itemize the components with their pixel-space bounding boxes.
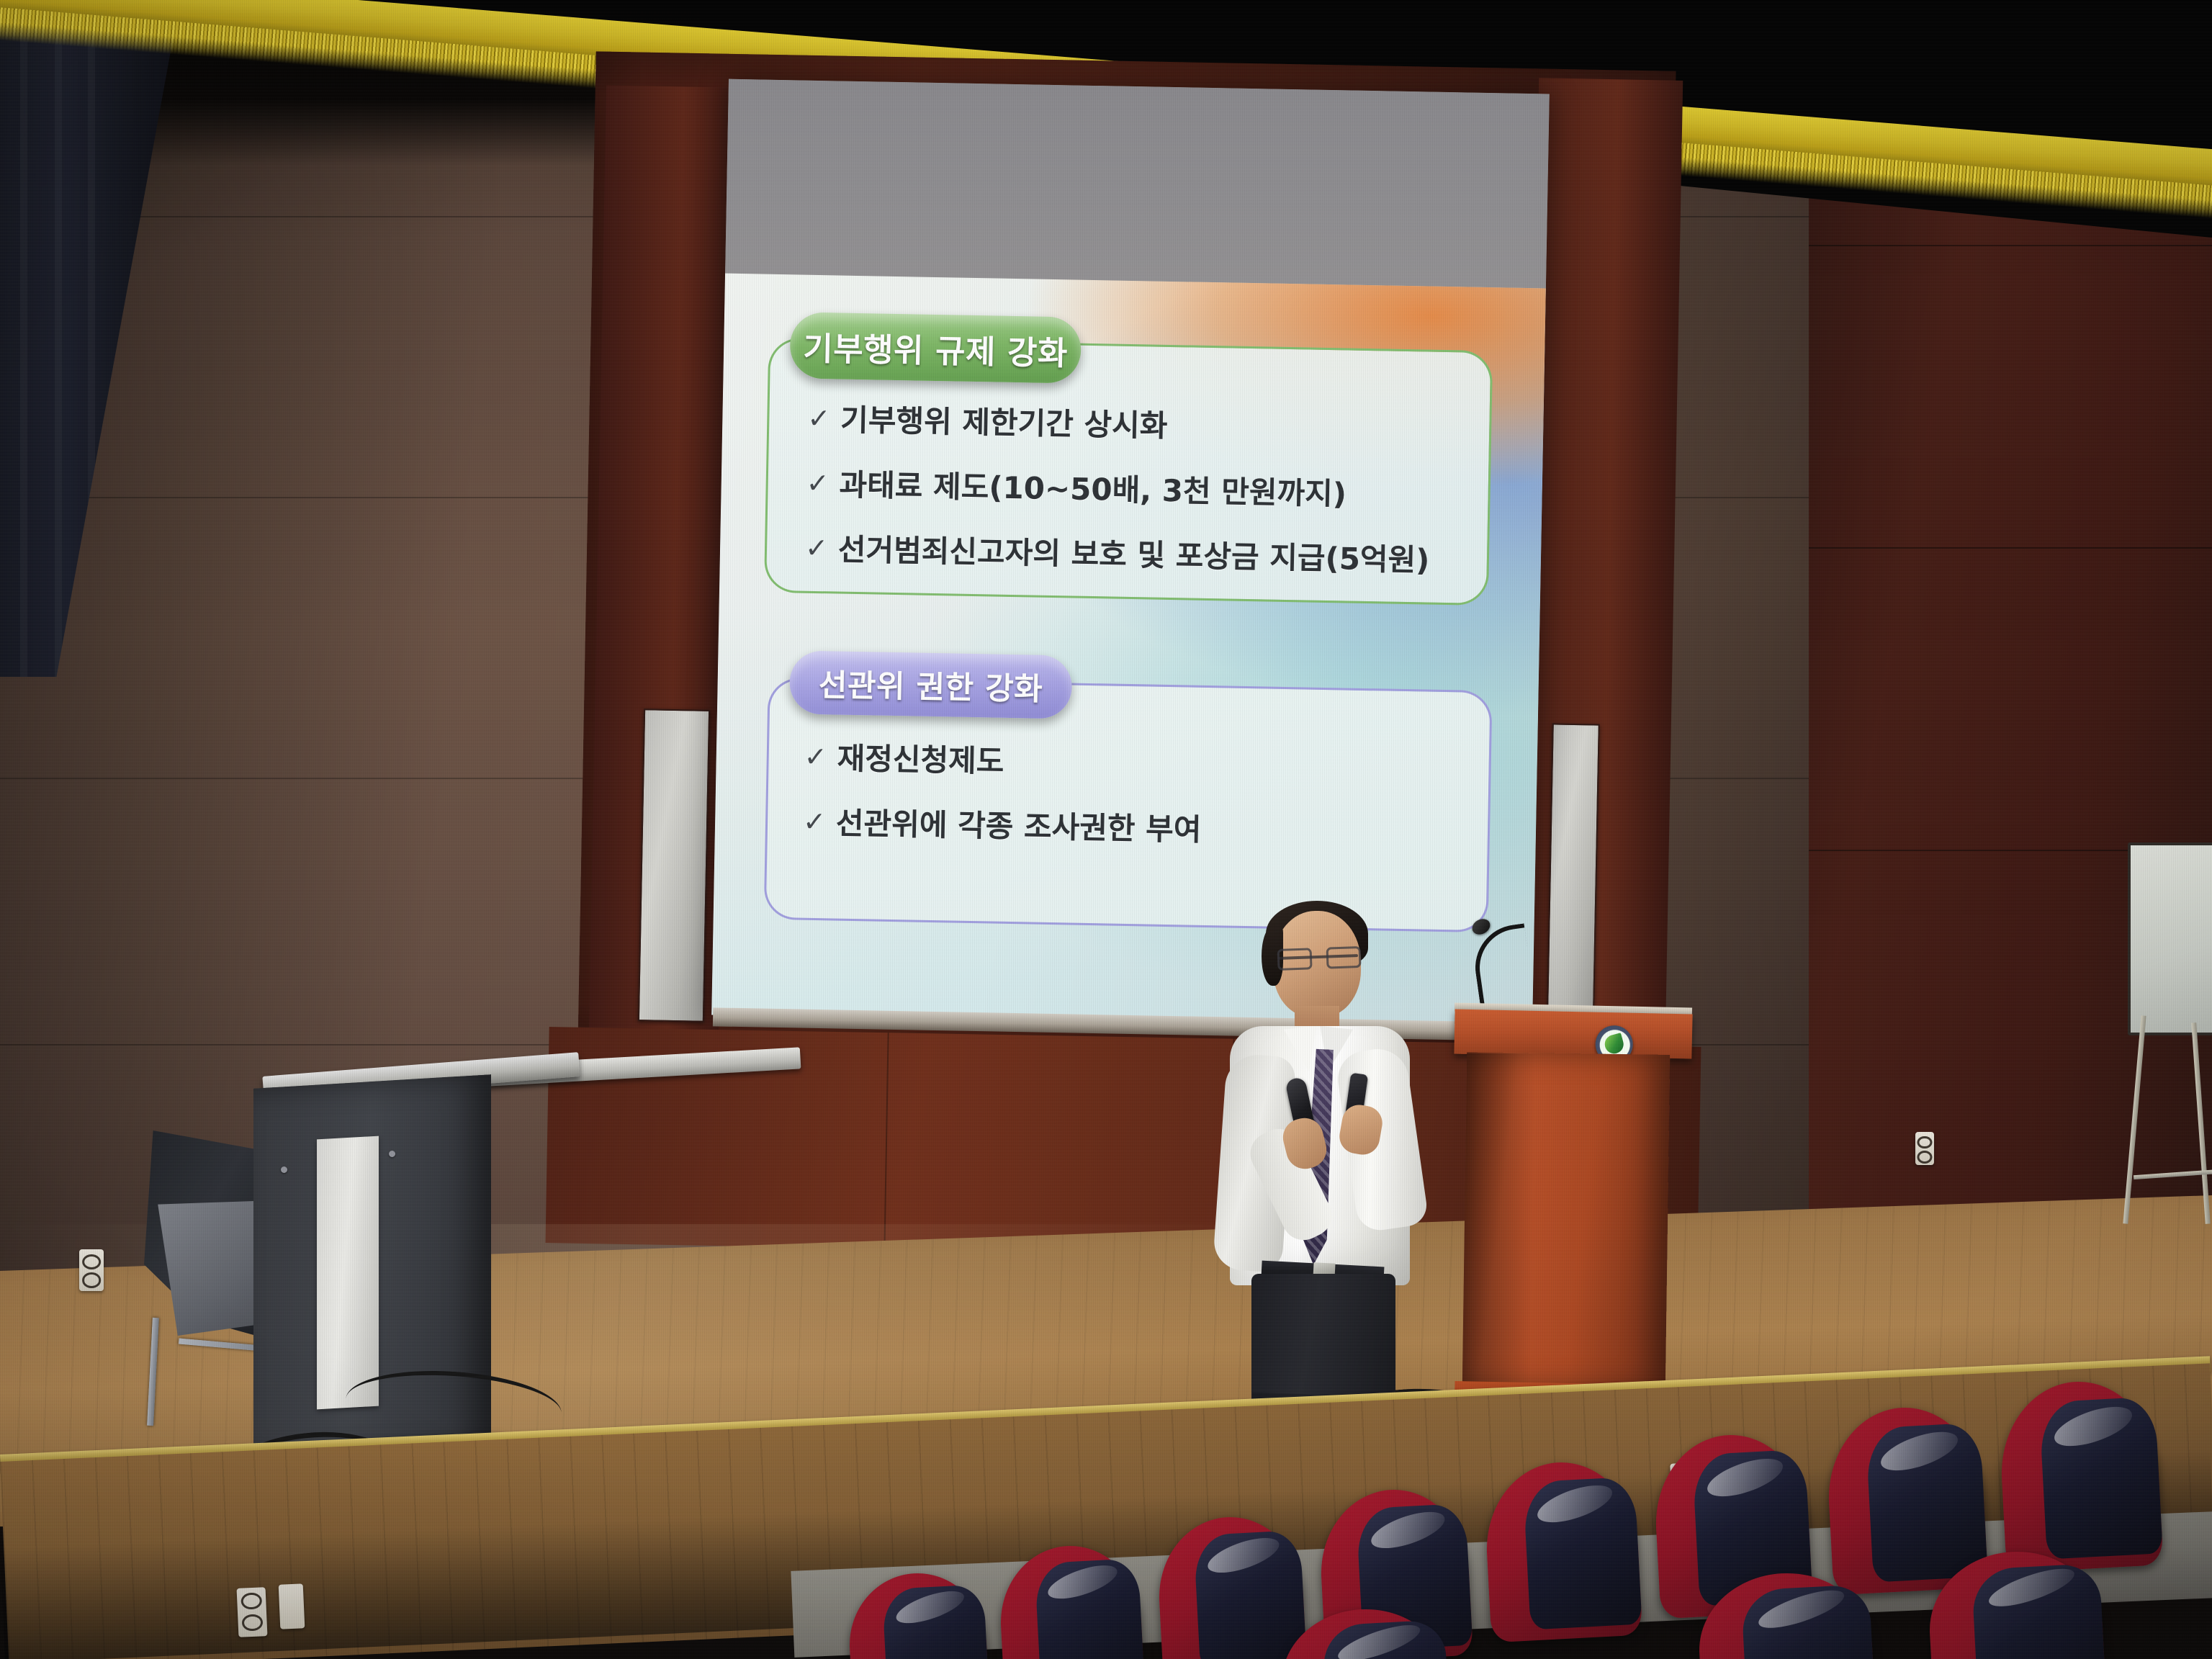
presenter	[1210, 889, 1440, 1458]
check-icon: ✓	[804, 742, 827, 773]
seat	[846, 1570, 990, 1659]
slide-heading-donation: 기부행위 규제 강화	[789, 312, 1082, 383]
podium-top-rail	[1454, 1010, 1692, 1059]
wall-outlet-left	[79, 1249, 104, 1291]
speaker-grille-left	[638, 709, 710, 1022]
check-icon: ✓	[806, 468, 829, 500]
projection-screen: 기부행위 규제 강화 ✓ 기부행위 제한기간 상시화 ✓ 과태료 제도(10~5…	[711, 79, 1550, 1030]
speaker-grille-right	[1547, 723, 1600, 1007]
flipchart-easel[interactable]	[2113, 842, 2212, 1217]
auditorium-photo: 기부행위 규제 강화 ✓ 기부행위 제한기간 상시화 ✓ 과태료 제도(10~5…	[0, 0, 2212, 1659]
seat	[1696, 1569, 1876, 1659]
check-icon: ✓	[805, 533, 829, 565]
check-icon: ✓	[807, 403, 831, 435]
seat	[997, 1542, 1146, 1659]
slide-bullet-text: 기부행위 제한기간 상시화	[840, 404, 1168, 444]
check-icon: ✓	[803, 806, 827, 838]
auditorium-seat-row	[850, 1465, 2212, 1659]
slide-bullet: ✓ 선거범죄신고자의 보호 및 포상금 지급(5억원)	[805, 533, 1497, 579]
stage-face-outlet-a	[237, 1587, 268, 1637]
screen-unlit-area	[725, 79, 1550, 300]
slide-bullet-text: 재정신청제도	[837, 742, 1004, 778]
slide-bullet-text: 과태료 제도(10~50배, 3천 만원까지)	[839, 469, 1346, 511]
slide-bullets-donation: ✓ 기부행위 제한기간 상시화 ✓ 과태료 제도(10~50배, 3천 만원까지…	[804, 403, 1499, 611]
podium-shadow	[1462, 1053, 1535, 1388]
easel-crossbar	[2134, 1169, 2212, 1179]
podium[interactable]	[1455, 1012, 1699, 1415]
slide-heading-nec: 선관위 권한 강화	[789, 650, 1073, 719]
slide-bullets-nec: ✓ 재정신청제도 ✓ 선관위에 각종 조사권한 부여	[802, 742, 1496, 884]
lectern-accent-panel	[317, 1136, 379, 1410]
whiteboard-panel[interactable]	[2128, 842, 2212, 1035]
seat	[1926, 1547, 2107, 1659]
seat	[1997, 1377, 2163, 1573]
seat	[1278, 1605, 1451, 1659]
easel-leg	[2191, 1022, 2211, 1224]
easel-leg	[2123, 1015, 2146, 1224]
seat	[1483, 1459, 1643, 1643]
slide-bullet-text: 선관위에 각종 조사권한 부여	[836, 807, 1202, 847]
wall-outlet-right	[1915, 1132, 1934, 1165]
slide-bullet-text: 선거범죄신고자의 보호 및 포상금 지급(5억원)	[837, 534, 1429, 577]
slide-bullet: ✓ 선관위에 각종 조사권한 부여	[803, 806, 1495, 853]
slide-bullet: ✓ 과태료 제도(10~50배, 3천 만원까지)	[806, 468, 1498, 514]
stage-face-outlet-b	[279, 1583, 305, 1629]
